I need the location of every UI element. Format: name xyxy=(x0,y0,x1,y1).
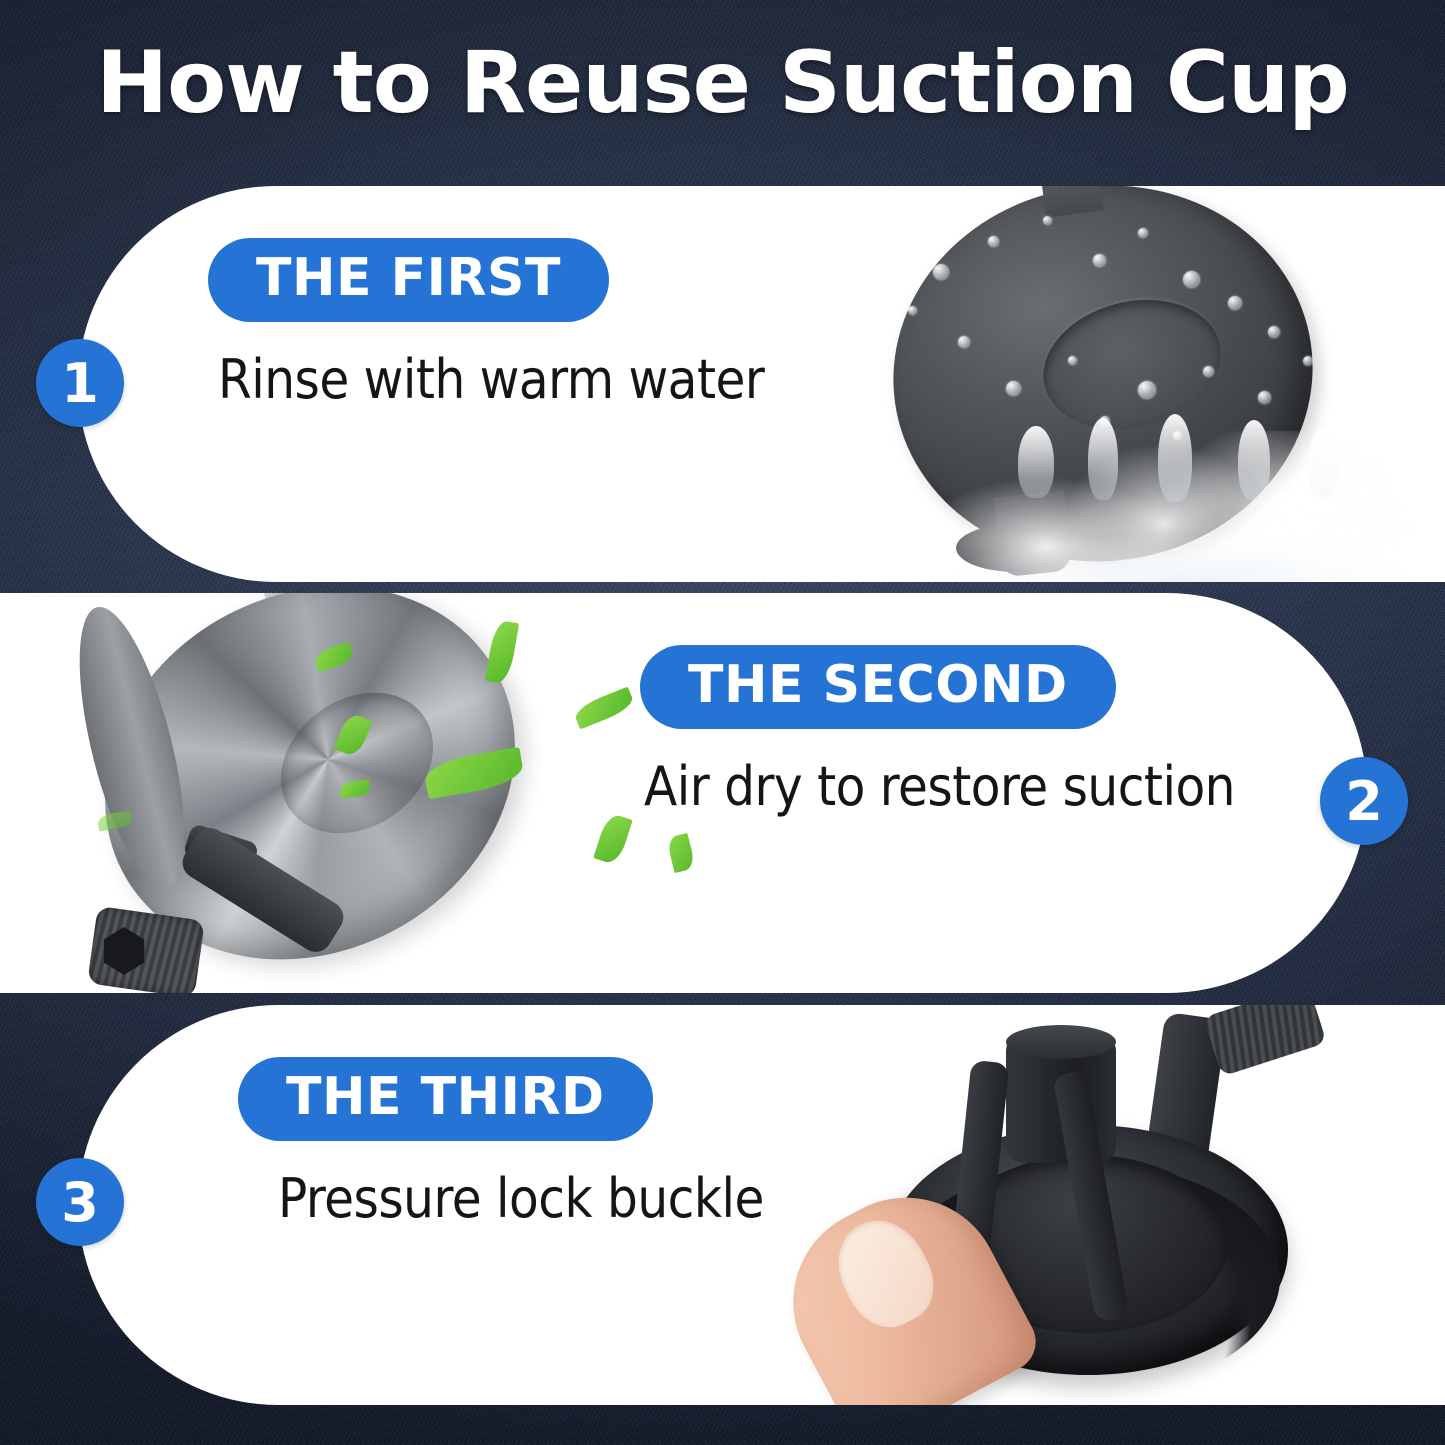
water-droplet-icon xyxy=(1093,254,1106,267)
water-droplet-icon xyxy=(1006,381,1021,396)
water-droplet-icon xyxy=(1068,356,1077,365)
step-panel-3: THE THIRD Pressure lock buckle xyxy=(78,1005,1445,1405)
water-droplet-icon xyxy=(958,336,970,348)
suction-cup-mount-icon xyxy=(100,835,360,993)
step-2-caption: Air dry to restore suction xyxy=(644,755,1235,818)
step-2-illustration xyxy=(40,593,720,993)
step-1-chip: THE FIRST xyxy=(208,238,609,322)
step-2-text-block: THE SECOND Air dry to restore suction xyxy=(640,645,1235,818)
water-crown-icon xyxy=(1238,420,1270,500)
water-droplet-icon xyxy=(1203,366,1214,377)
suction-cup-post-top-icon xyxy=(1006,1025,1116,1059)
step-3-chip: THE THIRD xyxy=(238,1057,653,1141)
water-droplet-icon xyxy=(1228,296,1242,310)
water-crown-icon xyxy=(1088,418,1118,500)
water-crown-icon xyxy=(1018,426,1054,498)
step-2-chip: THE SECOND xyxy=(640,645,1116,729)
step-3-caption: Pressure lock buckle xyxy=(278,1167,764,1230)
step-1-text-block: THE FIRST Rinse with warm water xyxy=(208,238,764,411)
step-3-text-block: THE THIRD Pressure lock buckle xyxy=(238,1057,764,1230)
water-crown-icon xyxy=(1308,428,1338,498)
step-number-badge-2: 2 xyxy=(1320,757,1408,845)
step-number-badge-3: 3 xyxy=(36,1158,124,1246)
leaf-icon xyxy=(485,619,519,684)
step-panel-2: THE SECOND Air dry to restore suction xyxy=(0,593,1367,993)
infographic-poster: How to Reuse Suction Cup xyxy=(0,0,1445,1445)
step-1-illustration xyxy=(838,186,1445,582)
step-panel-1: THE FIRST Rinse with warm water xyxy=(78,186,1445,582)
step-number-badge-1: 1 xyxy=(36,339,124,427)
suction-disc-inner-icon xyxy=(1030,282,1235,447)
step-3-illustration xyxy=(778,1005,1445,1405)
water-droplet-icon xyxy=(1303,356,1313,366)
water-droplet-icon xyxy=(933,264,949,280)
water-droplet-icon xyxy=(908,306,917,315)
water-droplet-icon xyxy=(1043,216,1052,225)
water-droplet-icon xyxy=(1258,391,1271,404)
water-crown-icon xyxy=(1158,414,1192,502)
water-droplet-icon xyxy=(1138,228,1148,238)
leaf-icon xyxy=(593,812,633,866)
water-droplet-icon xyxy=(988,236,999,247)
page-title: How to Reuse Suction Cup xyxy=(0,38,1445,128)
step-1-caption: Rinse with warm water xyxy=(218,348,764,411)
water-droplet-icon xyxy=(1268,326,1280,338)
suction-cup-dimple-icon xyxy=(258,665,456,861)
leaf-icon xyxy=(666,833,696,873)
leaf-icon xyxy=(572,687,636,730)
water-droplet-icon xyxy=(1183,271,1200,288)
water-droplet-icon xyxy=(1138,381,1156,399)
mount-knob-icon xyxy=(1203,1005,1327,1076)
